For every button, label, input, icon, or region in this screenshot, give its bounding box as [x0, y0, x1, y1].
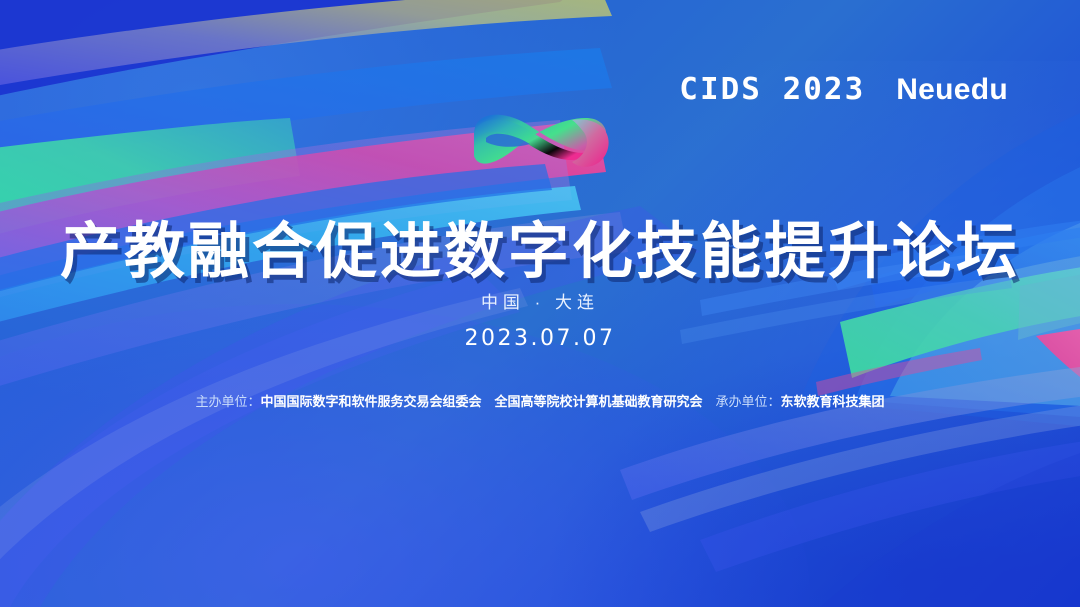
event-meta: 中国 · 大连 2023.07.07	[0, 288, 1080, 351]
host-label: 主办单位：	[195, 394, 260, 409]
background-glow-top-left	[0, 0, 648, 425]
organizers-line: 主办单位：中国国际数字和软件服务交易会组委会全国高等院校计算机基础教育研究会承办…	[0, 393, 1080, 411]
organizer-name-1: 东软教育科技集团	[781, 394, 885, 409]
mobius-infinity-icon	[460, 96, 620, 188]
page-title: 产教融合促进数字化技能提升论坛	[0, 219, 1080, 283]
event-location: 中国 · 大连	[0, 288, 1080, 313]
header-logo-row: CIDS 2023 Neuedu	[682, 72, 1008, 107]
conference-poster: CIDS 2023 Neuedu	[0, 0, 1080, 607]
host-name-1: 中国国际数字和软件服务交易会组委会	[260, 394, 481, 409]
organizer-label: 承办单位：	[716, 394, 781, 409]
event-date: 2023.07.07	[0, 326, 1080, 351]
host-name-2: 全国高等院校计算机基础教育研究会	[494, 394, 702, 409]
background-glow-bottom-right	[540, 334, 1080, 607]
cids-2023-logo: CIDS 2023	[679, 72, 865, 107]
neuedu-logo: Neuedu	[896, 73, 1008, 107]
